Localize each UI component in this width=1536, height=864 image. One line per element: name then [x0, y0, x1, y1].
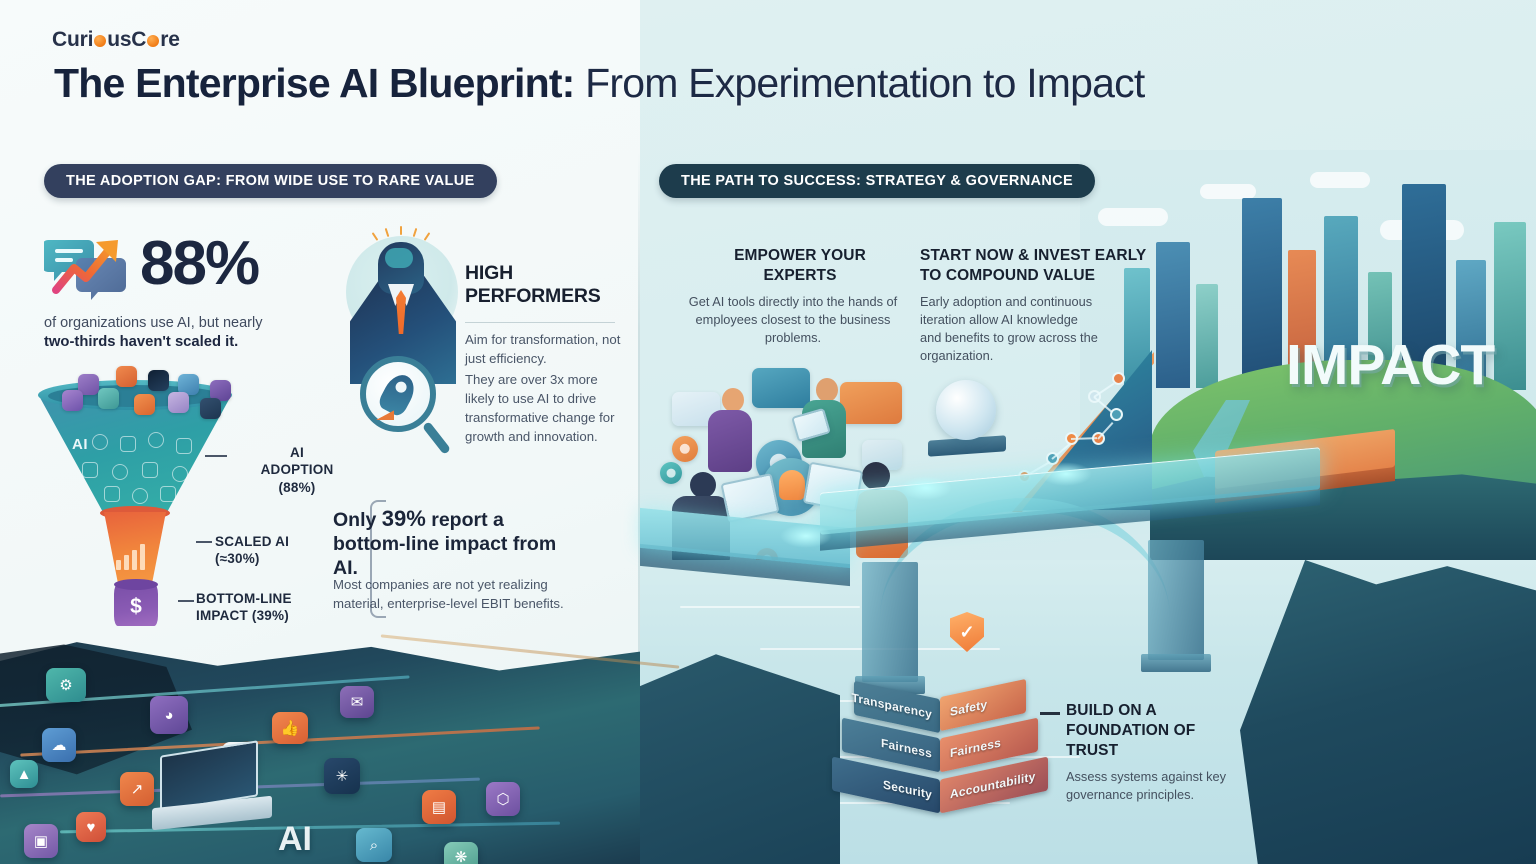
funnel-ghost-icon [104, 486, 120, 502]
brand-logo-part1: Curi [52, 28, 93, 52]
settings-app-icon: ⚙ [46, 668, 86, 702]
lightbulb-icon [779, 470, 805, 500]
share-app-icon: ↗ [120, 772, 154, 806]
governance-pillar-stack: Transparency Safety Fairness Fairness Se… [832, 672, 1042, 832]
foundation-of-trust-body: Assess systems against key governance pr… [1066, 768, 1266, 804]
deck-glow [780, 524, 832, 548]
funnel-ghost-icon [112, 464, 128, 480]
building-icon [1242, 198, 1282, 390]
brand-logo-dot-icon [93, 32, 107, 48]
person-head [816, 378, 838, 402]
funnel-ghost-icon [92, 434, 108, 450]
idea-ray [424, 232, 431, 241]
empower-experts-body: Get AI tools directly into the hands of … [678, 293, 908, 347]
image-app-icon: ▣ [24, 824, 58, 858]
person-head [722, 388, 744, 412]
cloud-icon [1098, 208, 1168, 226]
brain-app-icon: ◕ [150, 696, 188, 734]
funnel-ghost-icon [160, 486, 176, 502]
callout-39-heading: Only 39% report a bottom-line impact fro… [333, 506, 573, 580]
funnel-ghost-icon [176, 438, 192, 454]
building-icon [1494, 222, 1526, 390]
gear-icon [672, 436, 698, 462]
heart-app-icon: ♥ [76, 812, 106, 842]
funnel-ghost-icon [172, 466, 188, 482]
section-badge-path-to-success: THE PATH TO SUCCESS: STRATEGY & GOVERNAN… [659, 164, 1095, 198]
cloud-app-icon: ☁ [42, 728, 76, 762]
funnel-chip-icon [148, 370, 169, 391]
message-bubble-icon [840, 382, 902, 424]
brain-icon [385, 248, 413, 268]
funnel-chip-icon [168, 392, 189, 413]
cart-app-icon: ▤ [422, 790, 456, 824]
deck-glow [1040, 462, 1092, 486]
funnel-chip-icon [200, 398, 221, 419]
impact-word: IMPACT [1286, 332, 1494, 398]
callout-39-number: 39% [382, 506, 426, 531]
hexagon-app-icon: ⬡ [486, 782, 520, 816]
thumbs-up-app-icon: 👍 [272, 712, 308, 744]
globe-icon [936, 380, 996, 440]
empower-experts-title: EMPOWER YOUR EXPERTS [700, 246, 900, 286]
funnel-label-impact: BOTTOM-LINE IMPACT (39%) [196, 590, 346, 625]
idea-ray [413, 228, 418, 237]
funnel-ghost-icon [132, 488, 148, 504]
funnel-ghost-icon [120, 436, 136, 452]
wave-line [680, 606, 860, 608]
brand-logo-part3: re [160, 28, 179, 52]
high-performers-para2: They are over 3x more likely to use AI t… [465, 370, 627, 447]
idea-ray [372, 232, 379, 241]
person-torso [708, 410, 752, 472]
bridge-pier [862, 562, 918, 682]
callout-39-body: Most companies are not yet realizing mat… [333, 576, 583, 613]
funnel-chip-icon [62, 390, 83, 411]
growth-chart-icon [44, 232, 134, 302]
leaf-app-icon: ❋ [444, 842, 478, 864]
funnel-chip-icon [98, 388, 119, 409]
dollar-icon: $ [114, 590, 158, 624]
page-title-bold: The Enterprise AI Blueprint: [54, 60, 575, 106]
mail-app-icon: ✉ [340, 686, 374, 718]
brand-logo-part2: usC [107, 28, 146, 52]
cloud-icon [1310, 172, 1370, 188]
foundation-of-trust-title: BUILD ON A FOUNDATION OF TRUST [1066, 701, 1246, 760]
idea-ray [400, 226, 402, 235]
funnel-ghost-icon [148, 432, 164, 448]
person-head [690, 472, 716, 498]
gear-icon [660, 462, 682, 484]
ai-chip-app-icon: ✳ [324, 758, 360, 794]
stat-caption-line2: two-thirds haven't scaled it. [44, 333, 364, 353]
bridge-pier [1148, 540, 1204, 660]
funnel-tick-adoption [205, 455, 227, 457]
high-performers-para1: Aim for transformation, not just efficie… [465, 330, 627, 368]
magnifier-handle [422, 421, 451, 455]
page-title-light: From Experimentation to Impact [575, 60, 1145, 106]
trust-leader-line [1040, 712, 1060, 715]
funnel-chip-icon [116, 366, 137, 387]
high-performers-title: HIGH PERFORMERS [465, 262, 635, 308]
funnel-tick-scaled [196, 541, 212, 543]
brand-logo[interactable]: Curi usC re [52, 28, 180, 52]
brand-logo-dot-icon [146, 32, 160, 48]
deck-glow [900, 476, 952, 500]
triangle-app-icon: ▲ [10, 760, 38, 788]
funnel-ghost-icon [82, 462, 98, 478]
cloud-icon [1200, 184, 1256, 199]
search-app-icon: ⌕ [356, 828, 392, 862]
funnel-chip-icon [134, 394, 155, 415]
stat-caption-line1: of organizations use AI, but nearly [44, 314, 344, 334]
section-badge-adoption-gap: THE ADOPTION GAP: FROM WIDE USE TO RARE … [44, 164, 497, 198]
chart-bubble-icon [752, 368, 810, 408]
callout-39-pre: Only [333, 509, 382, 531]
start-now-body: Early adoption and continuous iteration … [920, 293, 1100, 366]
funnel-bar-chart-icon [116, 540, 156, 570]
laptop-icon [152, 748, 272, 824]
idea-ray [385, 228, 390, 237]
start-now-title: START NOW & INVEST EARLY TO COMPOUND VAL… [920, 246, 1170, 286]
funnel-ai-label: AI [72, 436, 88, 453]
funnel-tick-impact [178, 600, 194, 602]
ai-word: AI [278, 820, 312, 859]
stat-88-percent: 88% [140, 228, 258, 299]
building-icon [1196, 284, 1218, 388]
high-performer-illustration [340, 228, 470, 458]
high-performers-divider [465, 322, 615, 323]
page-title: The Enterprise AI Blueprint: From Experi… [54, 60, 1494, 107]
infographic-canvas: IMPACT [0, 0, 1536, 864]
funnel-ghost-icon [142, 462, 158, 478]
